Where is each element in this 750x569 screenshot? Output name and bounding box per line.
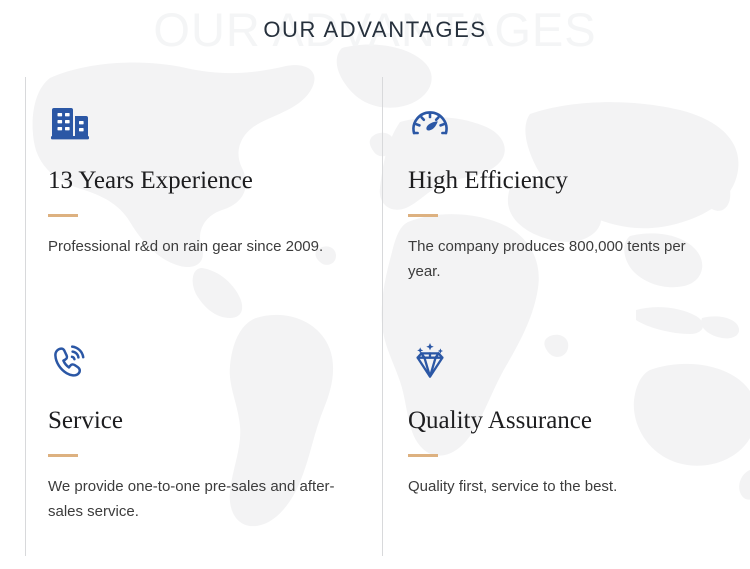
advantage-card-description: We provide one-to-one pre-sales and afte… bbox=[48, 474, 348, 524]
accent-rule bbox=[48, 214, 78, 217]
advantages-section: OUR ADVANTAGES OUR ADVANTAGES bbox=[0, 0, 750, 569]
diamond-icon bbox=[408, 340, 738, 388]
advantage-card-title: High Efficiency bbox=[408, 166, 738, 196]
speedometer-icon bbox=[408, 100, 738, 148]
accent-rule bbox=[408, 214, 438, 217]
accent-rule bbox=[48, 454, 78, 457]
advantage-card-quality: Quality Assurance Quality first, service… bbox=[408, 340, 738, 499]
accent-rule bbox=[408, 454, 438, 457]
advantage-card-service: Service We provide one-to-one pre-sales … bbox=[48, 340, 378, 524]
advantage-card-description: Quality first, service to the best. bbox=[408, 474, 708, 499]
advantage-card-description: The company produces 800,000 tents per y… bbox=[408, 234, 708, 284]
advantage-card-title: Quality Assurance bbox=[408, 406, 738, 436]
advantage-card-title: 13 Years Experience bbox=[48, 166, 378, 196]
building-icon bbox=[48, 100, 378, 148]
advantage-card-efficiency: High Efficiency The company produces 800… bbox=[408, 100, 738, 284]
advantage-card-experience: 13 Years Experience Professional r&d on … bbox=[48, 100, 378, 259]
advantage-card-title: Service bbox=[48, 406, 378, 436]
advantages-grid: 13 Years Experience Professional r&d on … bbox=[0, 0, 750, 569]
advantage-card-description: Professional r&d on rain gear since 2009… bbox=[48, 234, 348, 259]
phone-call-icon bbox=[48, 340, 378, 388]
